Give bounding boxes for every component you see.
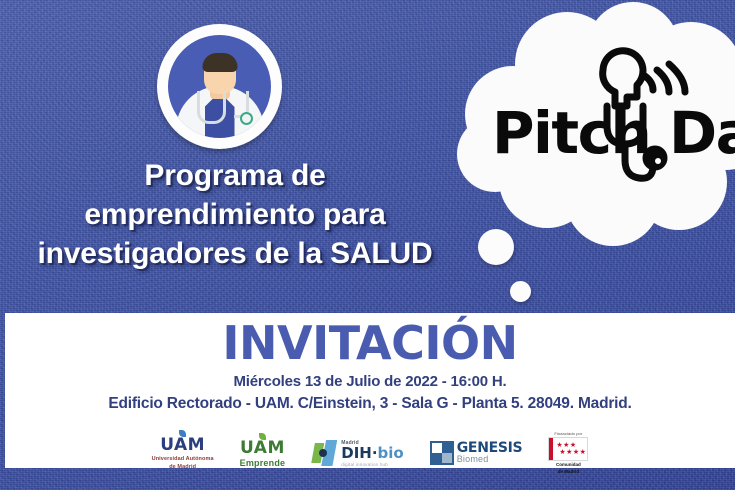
comunidad-caption-line1: Comunidad bbox=[556, 462, 581, 468]
uam-subtitle-line2: de Madrid bbox=[169, 464, 196, 471]
thought-bubble-dot-small bbox=[510, 281, 531, 302]
invitation-panel: INVITACIÓN Miércoles 13 de Julio de 2022… bbox=[5, 313, 735, 468]
genesis-text-block: GENESIS Biomed bbox=[457, 441, 523, 465]
invitation-title: INVITACIÓN bbox=[5, 319, 735, 367]
dih-bio-hexagon-icon bbox=[311, 440, 337, 466]
dih-tagline: digital innovation hub bbox=[341, 462, 403, 467]
sponsor-logo-strip: UAM Universidad Autónoma de Madrid UAM E… bbox=[5, 433, 735, 473]
logo-comunidad-de-madrid[interactable]: Financiado por ★★★ ★★★★ Comunidad de Mad… bbox=[548, 431, 588, 474]
genesis-subtitle: Biomed bbox=[457, 455, 523, 465]
logo-madrid-dih-bio[interactable]: Madrid DIH·bio digital innovation hub bbox=[311, 440, 403, 467]
pitch-day-title: Pitch Day bbox=[492, 104, 735, 162]
comunidad-financiado-label: Financiado por bbox=[554, 431, 582, 436]
logo-genesis-biomed[interactable]: GENESIS Biomed bbox=[430, 441, 523, 465]
doctor-hair-shape bbox=[202, 53, 237, 72]
comunidad-emblem-icon: ★★★ ★★★★ bbox=[548, 437, 588, 461]
uam-wordmark: UAM bbox=[160, 435, 205, 455]
genesis-square-icon bbox=[430, 441, 454, 465]
genesis-square-grey bbox=[442, 453, 452, 463]
logo-uam-universidad-autonoma-de-madrid[interactable]: UAM Universidad Autónoma de Madrid bbox=[152, 435, 214, 472]
dih-bio-text-block: Madrid DIH·bio digital innovation hub bbox=[341, 440, 403, 467]
comunidad-caption-line2: de Madrid bbox=[558, 469, 579, 475]
stethoscope-left-tube bbox=[197, 91, 226, 124]
uam-subtitle-line1: Universidad Autónoma bbox=[152, 456, 214, 463]
program-headline: Programa de emprendimiento para investig… bbox=[0, 156, 470, 273]
dih-wordmark-dih: DIH· bbox=[341, 444, 377, 462]
event-date-line: Miércoles 13 de Julio de 2022 - 16:00 H. bbox=[5, 371, 735, 393]
uam-emprende-accent-tick-icon bbox=[259, 433, 266, 440]
dih-wordmark-bio: bio bbox=[378, 444, 404, 462]
headline-line-1: Programa de bbox=[0, 156, 470, 195]
invitation-details: Miércoles 13 de Julio de 2022 - 16:00 H.… bbox=[5, 371, 735, 415]
uam-emprende-subtitle: Emprende bbox=[240, 458, 286, 468]
comunidad-stars-row2: ★★★★ bbox=[559, 449, 586, 456]
dih-bio-lockup: Madrid DIH·bio digital innovation hub bbox=[311, 440, 403, 467]
logo-uam-emprende[interactable]: UAM Emprende bbox=[240, 438, 286, 468]
headline-line-2: emprendimiento para bbox=[0, 195, 470, 234]
genesis-lockup: GENESIS Biomed bbox=[430, 441, 523, 465]
avatar-inner-circle bbox=[168, 35, 271, 138]
poster-canvas: Programa de emprendimiento para investig… bbox=[0, 0, 735, 490]
genesis-wordmark: GENESIS bbox=[457, 441, 523, 455]
dih-wordmark: DIH·bio bbox=[341, 446, 403, 461]
comunidad-red-bar bbox=[549, 438, 553, 460]
stethoscope-bell-icon bbox=[240, 112, 253, 125]
uam-emprende-wordmark: UAM bbox=[240, 438, 285, 458]
doctor-avatar-icon bbox=[157, 24, 282, 149]
uam-accent-tick-icon bbox=[179, 430, 186, 437]
genesis-square-white bbox=[432, 443, 442, 453]
event-venue-line: Edificio Rectorado - UAM. C/Einstein, 3 … bbox=[5, 393, 735, 415]
thought-bubble-dot-large bbox=[478, 229, 514, 265]
headline-line-3: investigadores de la SALUD bbox=[0, 234, 470, 273]
